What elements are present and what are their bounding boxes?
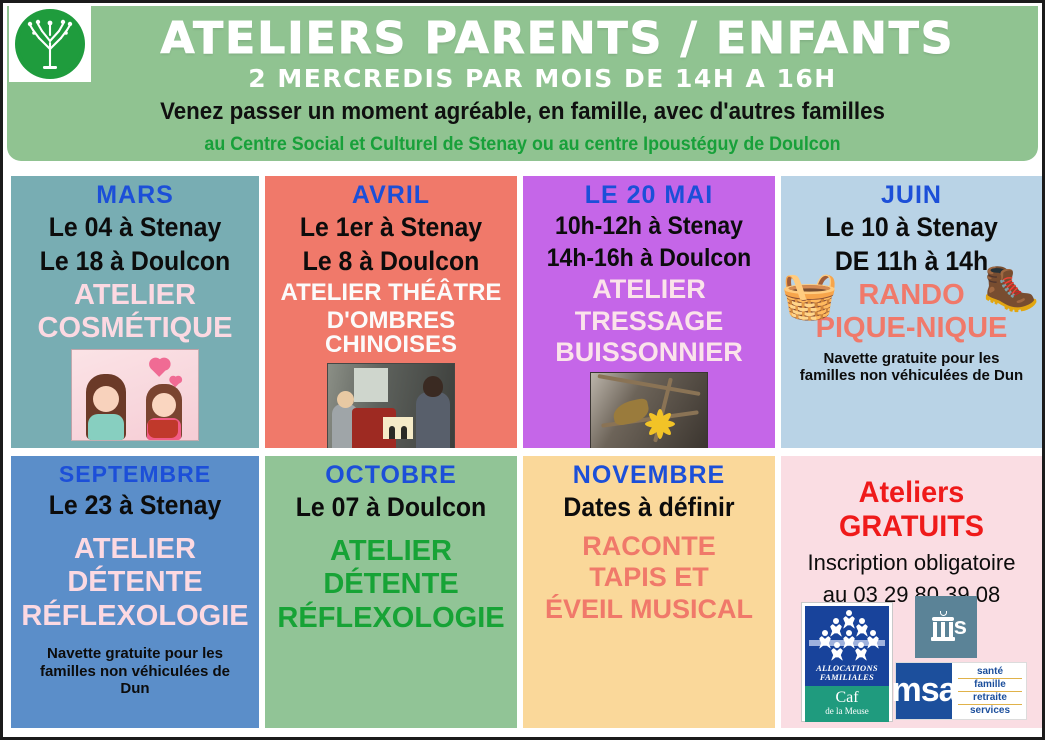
adult-figure xyxy=(416,392,450,448)
caf-logo-bottom: Caf de la Meuse xyxy=(805,686,889,722)
card-date-mars-1: Le 04 à Stenay xyxy=(25,212,246,243)
card-activity-mai-2: TRESSAGE xyxy=(527,308,771,336)
card-date-mars-2: Le 18 à Doulcon xyxy=(25,246,246,277)
window-shape xyxy=(354,368,388,402)
poster-title: ATELIERS PARENTS / ENFANTS xyxy=(7,13,1038,64)
yellow-flower xyxy=(645,409,675,439)
card-date-septembre-1: Le 23 à Stenay xyxy=(25,490,246,521)
hiker-icon: 🥾 xyxy=(983,264,1040,310)
card-activity-mai-1: ATELIER xyxy=(527,276,771,304)
caf-subtitle: de la Meuse xyxy=(825,706,868,718)
workshop-grid: MARS Le 04 à Stenay Le 18 à Doulcon ATEL… xyxy=(11,176,1040,728)
card-activity-octobre-3: RÉFLEXOLOGIE xyxy=(269,604,513,634)
card-date-mai-1: 10h-12h à Stenay xyxy=(537,212,761,241)
poster-header: ATELIERS PARENTS / ENFANTS 2 MERCREDIS P… xyxy=(7,6,1038,161)
caf-people-icon xyxy=(805,610,889,658)
msa-building-icon: s xyxy=(915,596,977,658)
card-month-septembre: SEPTEMBRE xyxy=(15,462,255,487)
card-month-octobre: OCTOBRE xyxy=(269,462,513,489)
card-activity-novembre-2: TAPIS ET xyxy=(527,564,771,592)
shadow-theatre-box xyxy=(352,408,396,448)
card-activity-septembre-3: RÉFLEXOLOGIE xyxy=(15,602,255,632)
partner-logos: ALLOCATIONS FAMILIALES Caf de la Meuse xyxy=(795,596,1034,722)
picnic-basket-icon: 🧺 xyxy=(781,272,838,318)
poster-root: ATELIERS PARENTS / ENFANTS 2 MERCREDIS P… xyxy=(0,0,1045,740)
caf-tagline: ALLOCATIONS FAMILIALES xyxy=(816,664,878,686)
caf-brand: Caf xyxy=(835,690,858,706)
card-date-avril-1: Le 1er à Stenay xyxy=(279,212,503,243)
card-activity-mars-1: ATELIER xyxy=(15,281,255,311)
bowl-icon xyxy=(148,420,178,438)
msa-service-retraite: retraite xyxy=(958,693,1022,705)
card-septembre[interactable]: SEPTEMBRE Le 23 à Stenay ATELIER DÉTENTE… xyxy=(11,456,259,728)
theatre-screen xyxy=(383,417,413,439)
card-info[interactable]: Ateliers GRATUITS Inscription obligatoir… xyxy=(781,456,1042,728)
msa-services-list: santé famille retraite services xyxy=(952,663,1026,719)
card-month-mai: LE 20 MAI xyxy=(527,182,771,209)
card-month-mars: MARS xyxy=(15,182,255,209)
card-note-septembre: Navette gratuite pour les familles non v… xyxy=(15,645,255,697)
silhouette-left xyxy=(389,426,395,439)
card-activity-mai-3: BUISSONNIER xyxy=(527,339,771,367)
card-date-octobre-1: Le 07 à Doulcon xyxy=(279,492,503,523)
msa-logo: msa santé famille retraite services xyxy=(895,662,1027,720)
card-octobre[interactable]: OCTOBRE Le 07 à Doulcon ATELIER DÉTENTE … xyxy=(265,456,517,728)
mother-figure xyxy=(86,374,126,440)
card-mai[interactable]: LE 20 MAI 10h-12h à Stenay 14h-16h à Dou… xyxy=(523,176,775,448)
header-venue: au Centre Social et Culturel de Stenay o… xyxy=(38,134,1007,156)
poster-subtitle: 2 MERCREDIS PAR MOIS DE 14H A 16H xyxy=(7,64,1038,93)
card-activity-septembre-2: DÉTENTE xyxy=(15,568,255,598)
card-activity-octobre-2: DÉTENTE xyxy=(269,570,513,600)
card-activity-septembre-1: ATELIER xyxy=(15,535,255,565)
card-note-juin: Navette gratuite pour les familles non v… xyxy=(785,350,1038,385)
heart-icon xyxy=(151,359,169,377)
card-activity-avril-2: D'OMBRES CHINOISES xyxy=(269,309,513,358)
card-date-mai-2: 14h-16h à Doulcon xyxy=(537,244,761,273)
card-activity-avril-1: ATELIER THÉÂTRE xyxy=(269,281,513,305)
card-month-avril: AVRIL xyxy=(269,182,513,209)
card-activity-octobre-1: ATELIER xyxy=(269,537,513,567)
info-title: Ateliers GRATUITS xyxy=(790,476,1033,544)
card-juin[interactable]: JUIN Le 10 à Stenay DE 11h à 14h RANDO P… xyxy=(781,176,1042,448)
msa-service-famille: famille xyxy=(958,680,1022,692)
caf-logo: ALLOCATIONS FAMILIALES Caf de la Meuse xyxy=(801,602,893,722)
card-activity-mars-2: COSMÉTIQUE xyxy=(15,314,255,344)
msa-brand: msa xyxy=(896,663,952,719)
card-month-novembre: NOVEMBRE xyxy=(527,462,771,489)
card-activity-novembre-3: ÉVEIL MUSICAL xyxy=(527,596,771,624)
msa-s-letter: s xyxy=(954,615,967,639)
card-date-avril-2: Le 8 à Doulcon xyxy=(279,246,503,277)
caf-logo-top: ALLOCATIONS FAMILIALES xyxy=(805,606,889,686)
card-month-juin: JUIN xyxy=(785,182,1038,209)
weaving-nature-photo xyxy=(590,372,708,448)
roof-dot xyxy=(940,611,947,616)
shadow-theatre-photo xyxy=(327,363,455,448)
building-base xyxy=(931,637,955,641)
silhouette-right xyxy=(401,426,407,439)
msa-service-services: services xyxy=(958,706,1022,717)
card-date-juin-1: Le 10 à Stenay xyxy=(795,212,1028,243)
card-novembre[interactable]: NOVEMBRE Dates à définir RACONTE TAPIS E… xyxy=(523,456,775,728)
building-glyph: s xyxy=(929,611,963,643)
msa-service-sante: santé xyxy=(958,667,1022,679)
cosmetic-workshop-photo xyxy=(71,349,199,441)
header-tagline: Venez passer un moment agréable, en fami… xyxy=(43,98,1002,126)
card-date-novembre-1: Dates à définir xyxy=(537,492,761,523)
card-mars[interactable]: MARS Le 04 à Stenay Le 18 à Doulcon ATEL… xyxy=(11,176,259,448)
info-registration: Inscription obligatoire xyxy=(785,550,1038,576)
card-avril[interactable]: AVRIL Le 1er à Stenay Le 8 à Doulcon ATE… xyxy=(265,176,517,448)
card-activity-novembre-1: RACONTE xyxy=(527,533,771,561)
